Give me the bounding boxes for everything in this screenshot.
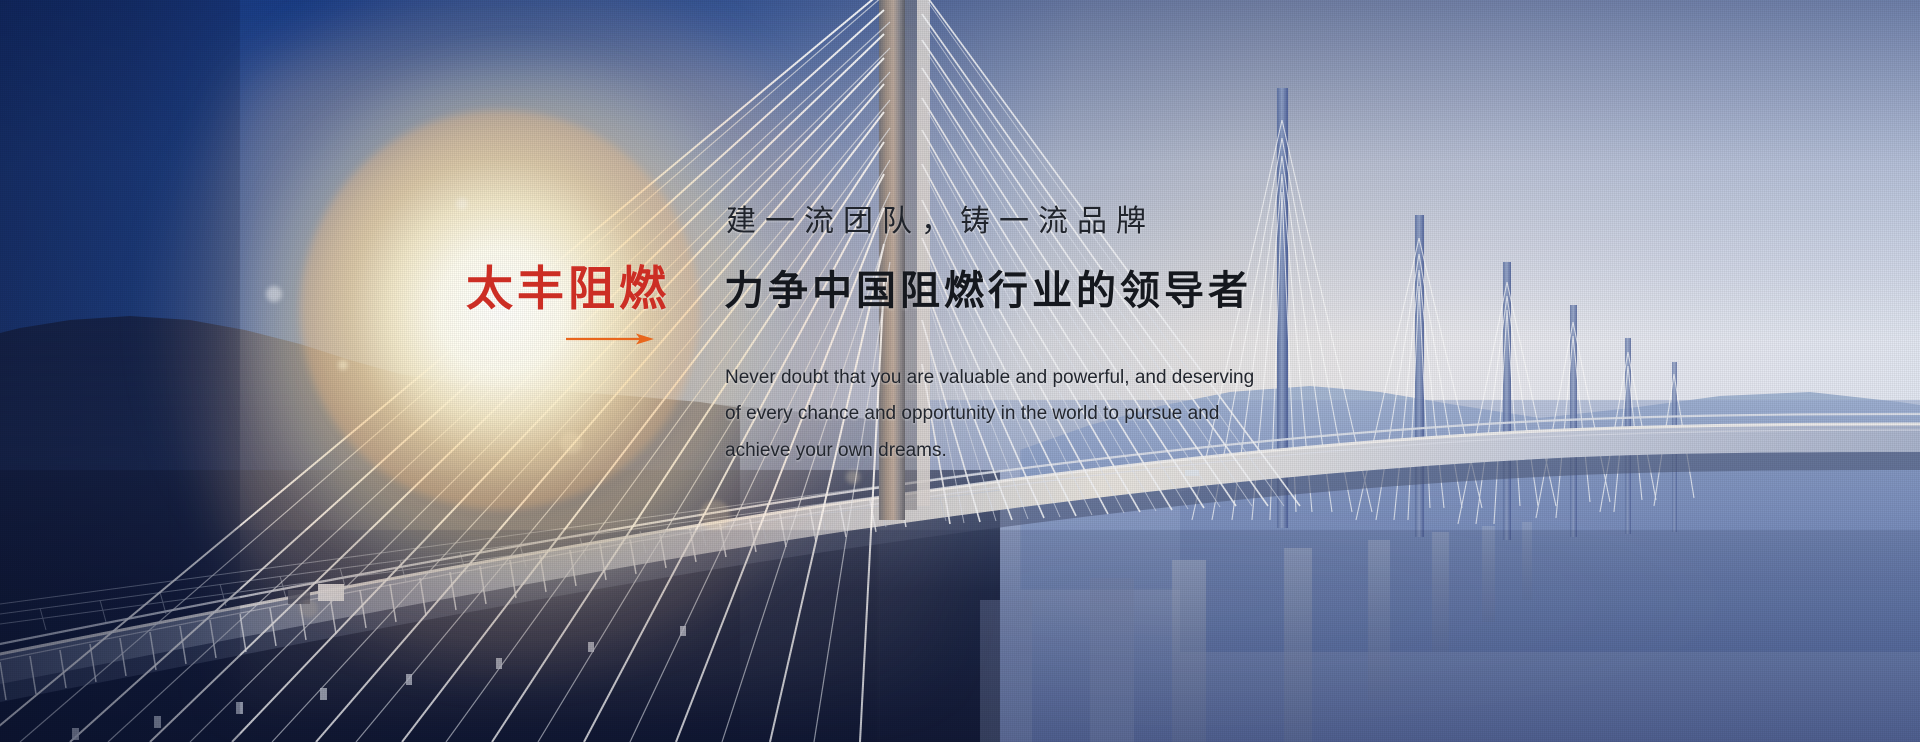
arrow-right-icon <box>566 330 656 348</box>
brand-logo-text[interactable]: 太丰阻燃 <box>466 266 670 313</box>
headline-line-2: 力争中国阻燃行业的领导者 <box>724 258 1252 316</box>
slogan-line-1: Never doubt that you are valuable and po… <box>725 360 1305 396</box>
banner-content: 太丰阻燃 建一流团队，铸一流品牌 力争中国阻燃行业的领导者 Never doub… <box>0 0 1920 742</box>
headline-line-1: 建一流团队，铸一流品牌 <box>726 196 1155 240</box>
slogan-paragraph: Never doubt that you are valuable and po… <box>725 360 1305 469</box>
slogan-line-2: of every chance and opportunity in the w… <box>725 396 1305 432</box>
slogan-line-3: achieve your own dreams. <box>725 433 1305 469</box>
hero-banner: 太丰阻燃 建一流团队，铸一流品牌 力争中国阻燃行业的领导者 Never doub… <box>0 0 1920 742</box>
